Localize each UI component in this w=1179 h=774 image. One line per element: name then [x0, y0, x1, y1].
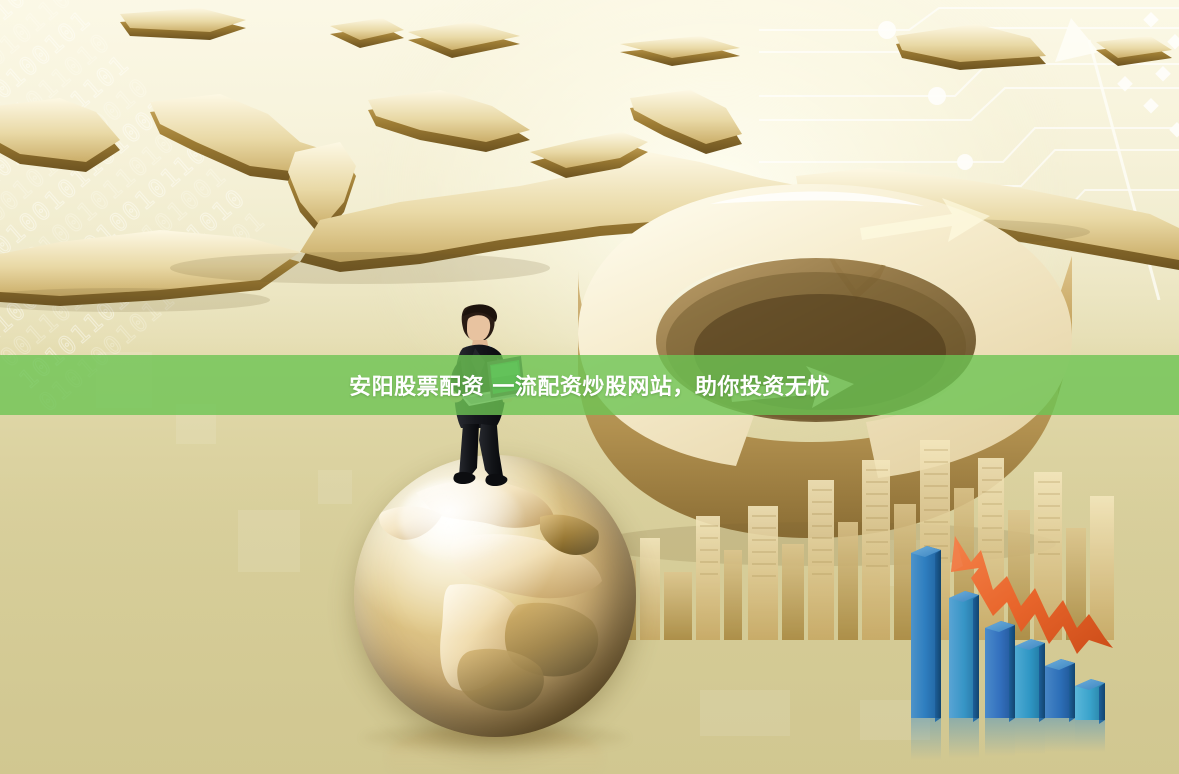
promo-banner-image: 10110101001011010 01001101010010110 1101… — [0, 0, 1179, 774]
promo-banner: 安阳股票配资 一流配资炒股网站，助你投资无忧 — [0, 355, 1179, 415]
banner-title: 安阳股票配资 一流配资炒股网站，助你投资无忧 — [349, 369, 830, 401]
